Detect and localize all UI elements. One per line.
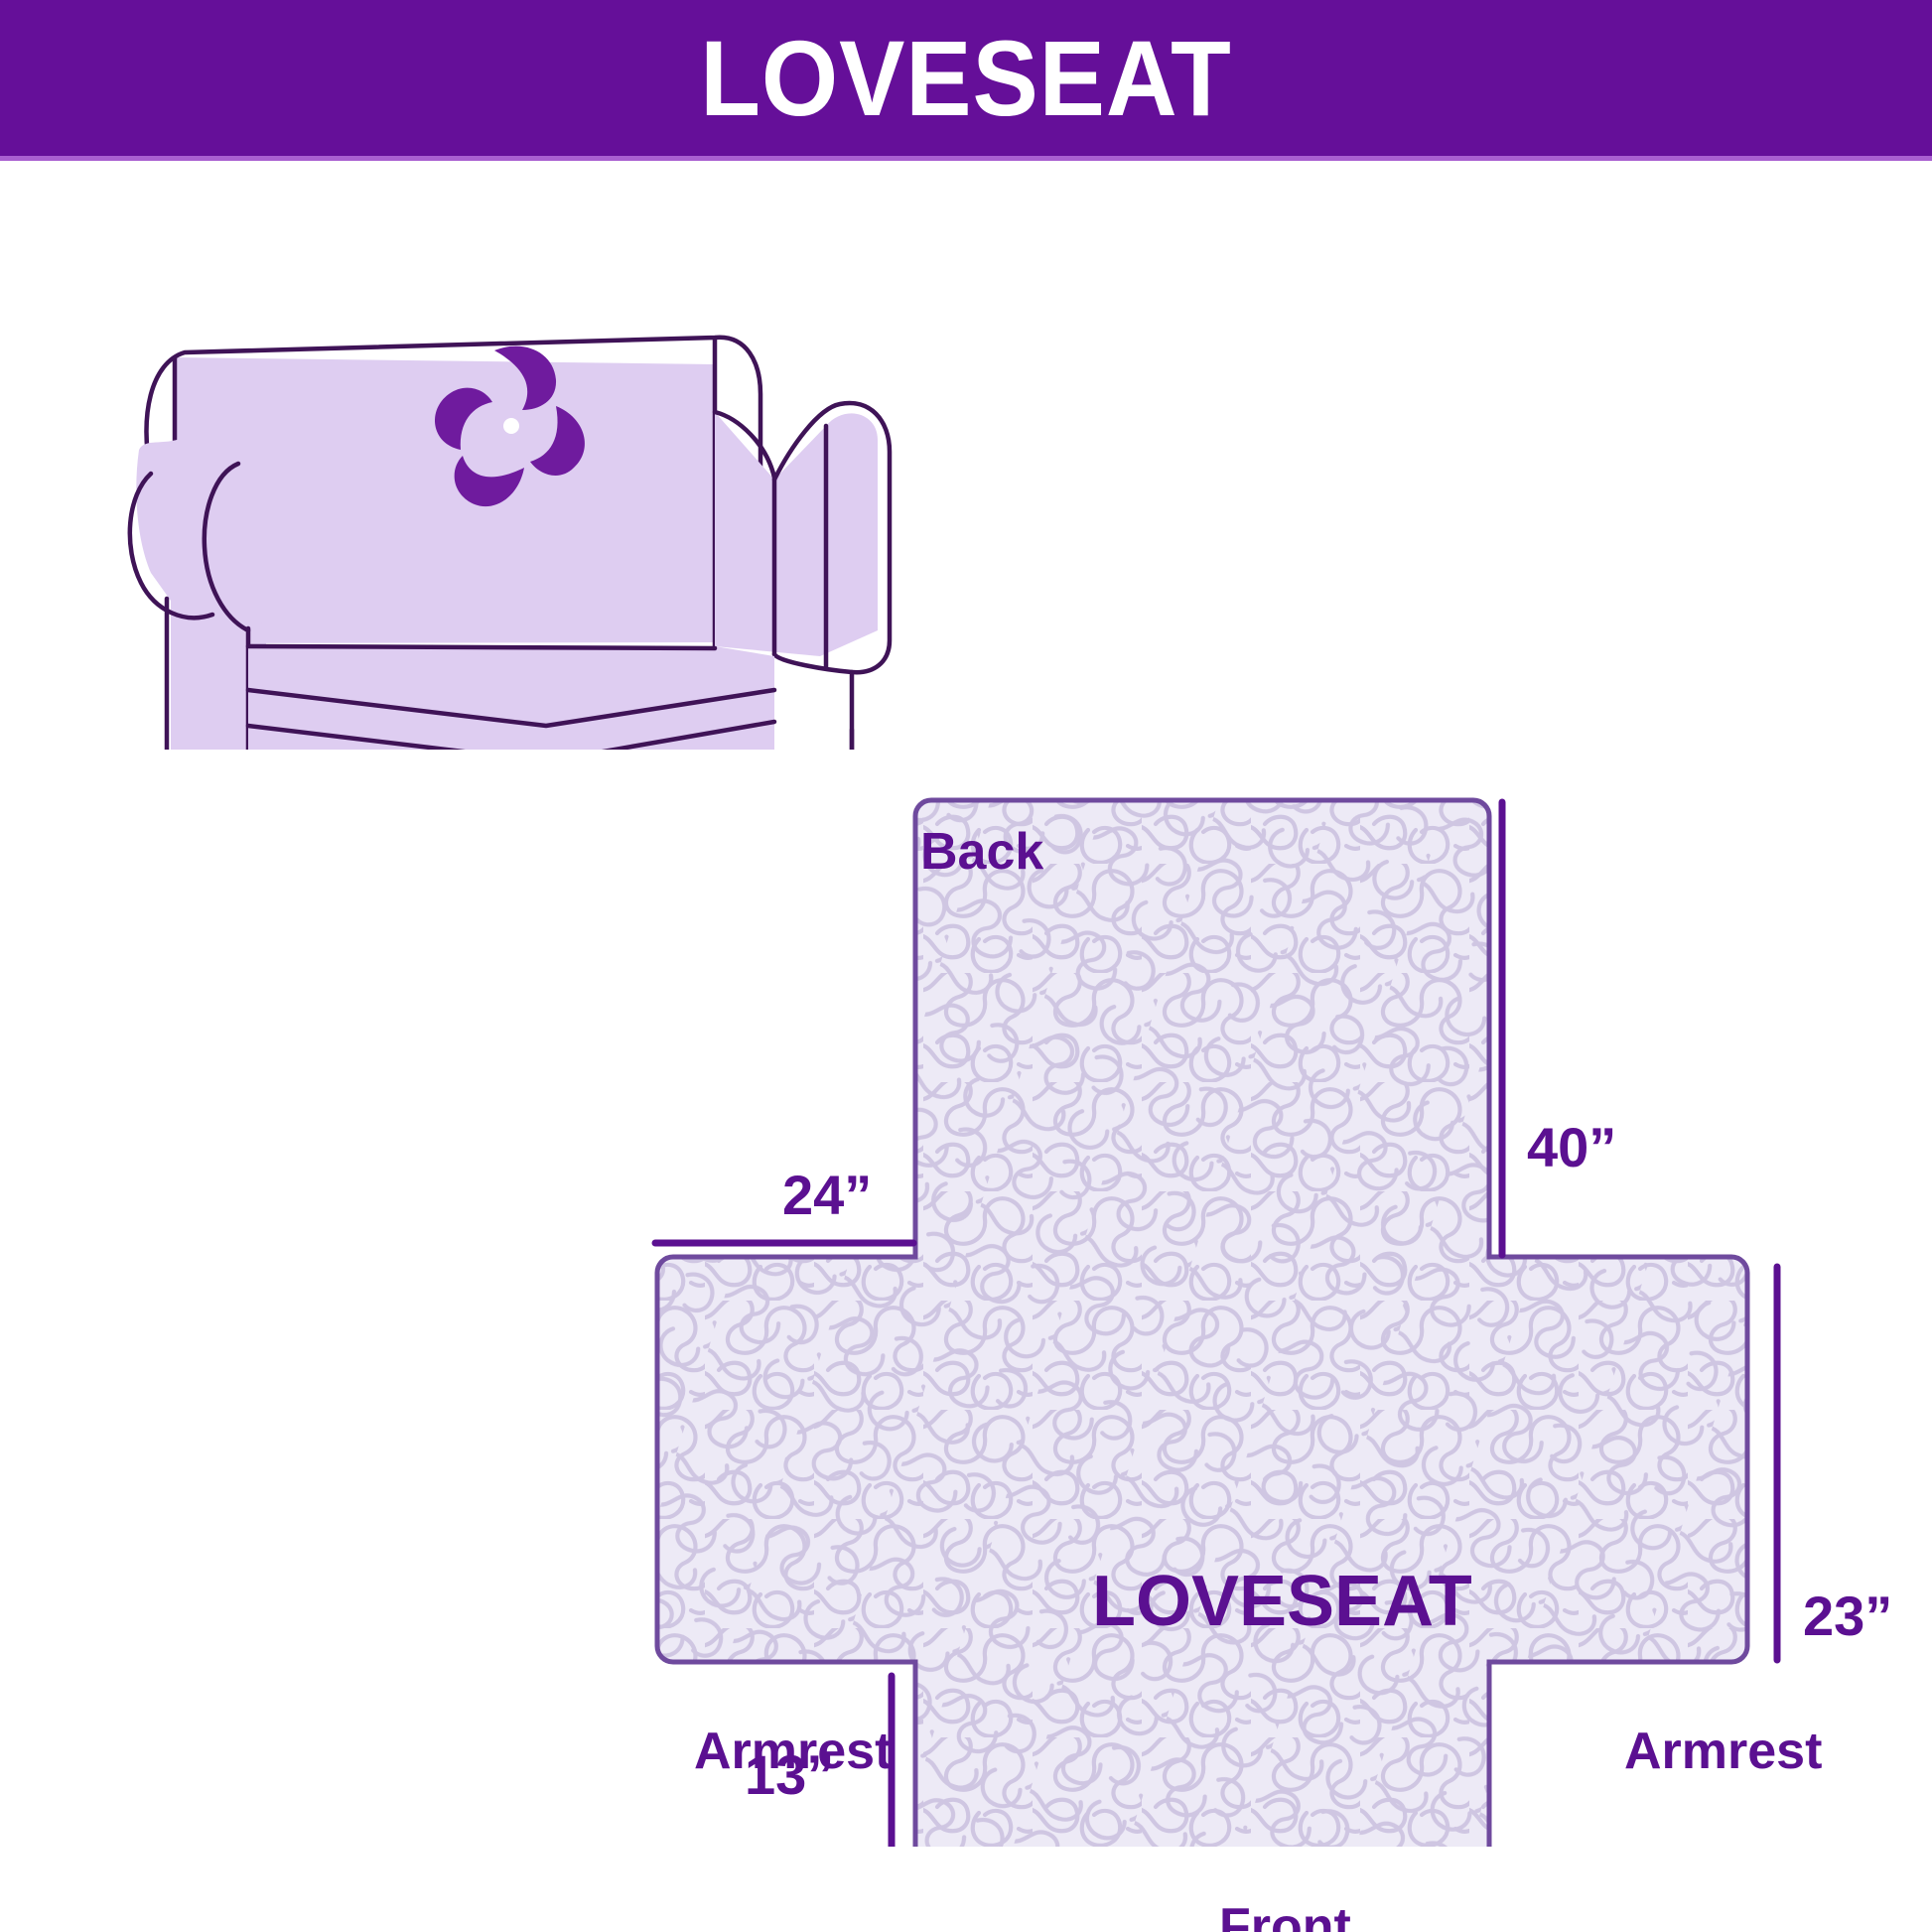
loveseat-illustration: .sf { fill:#decdf1; } .wh { fill:#ffffff…: [79, 213, 953, 750]
cross-layout-svg: [596, 755, 1932, 1847]
center-label-loveseat: LOVESEAT: [1092, 1566, 1472, 1637]
loveseat-line-drawing-svg: .sf { fill:#decdf1; } .wh { fill:#ffffff…: [79, 213, 953, 750]
dimension-label-24: 24”: [782, 1168, 872, 1223]
header-underline-divider: [0, 156, 1932, 161]
dimension-label-40: 40”: [1527, 1120, 1616, 1175]
panel-label-armrest-right: Armrest: [1624, 1725, 1822, 1777]
header-bar: LOVESEAT: [0, 0, 1932, 156]
loveseat-dimension-infographic: LOVESEAT .sf { fill:#decdf1; } .wh { fil…: [0, 0, 1932, 1932]
slipcover-cross-shape: [596, 755, 1932, 1847]
page-title: LOVESEAT: [700, 25, 1232, 132]
dimension-label-23: 23”: [1803, 1588, 1892, 1644]
slipcover-cross-diagram: Back LOVESEAT Armrest Armrest Front 40” …: [596, 755, 1932, 1847]
panel-label-back: Back: [920, 826, 1043, 878]
dimension-label-13: 13”: [745, 1747, 834, 1803]
panel-label-front: Front: [1219, 1901, 1351, 1932]
